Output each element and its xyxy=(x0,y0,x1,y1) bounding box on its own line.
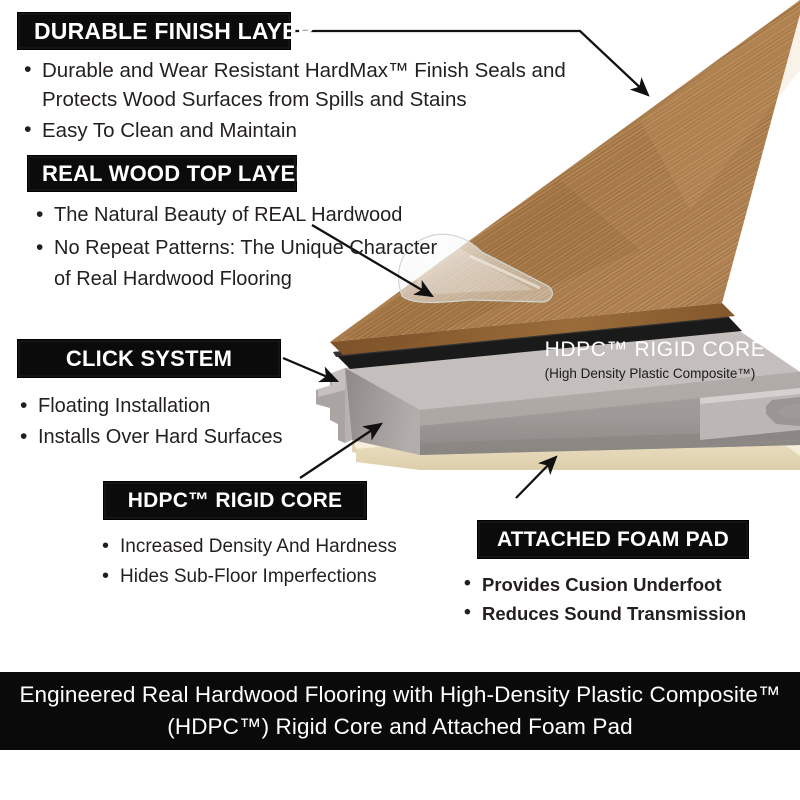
bottom-caption-bar: Engineered Real Hardwood Flooring with H… xyxy=(0,672,800,750)
leader-foam-pad xyxy=(516,457,556,498)
list-item: Easy To Clean and Maintain xyxy=(22,116,602,145)
caption-text: Engineered Real Hardwood Flooring with H… xyxy=(10,679,790,743)
callout-chip-attached-foam-pad: ATTACHED FOAM PAD xyxy=(478,521,748,558)
callout-title-durable-finish-layer: DURABLE FINISH LAYER xyxy=(34,18,288,45)
list-item: Increased Density And Hardness xyxy=(100,533,480,561)
callout-chip-durable-finish-layer: DURABLE FINISH LAYER xyxy=(18,13,290,49)
leader-click-system xyxy=(283,358,337,381)
callout-chip-hdpc-rigid-core: HDPC™ RIGID CORE xyxy=(104,482,366,519)
list-item: The Natural Beauty of REAL Hardwood xyxy=(34,200,454,231)
list-item: Durable and Wear Resistant HardMax™ Fini… xyxy=(22,56,602,114)
callout-bullets-hdpc-rigid-core: Increased Density And Hardness Hides Sub… xyxy=(100,533,480,593)
callout-chip-real-wood-top-layer: REAL WOOD TOP LAYER xyxy=(28,156,296,191)
list-item: Provides Cusion Underfoot xyxy=(462,571,792,598)
callout-bullets-attached-foam-pad: Provides Cusion Underfoot Reduces Sound … xyxy=(462,571,792,629)
callout-title-hdpc-rigid-core: HDPC™ RIGID CORE xyxy=(106,489,364,513)
callout-title-real-wood-top-layer: REAL WOOD TOP LAYER xyxy=(42,161,294,187)
callout-chip-click-system: CLICK SYSTEM xyxy=(18,340,280,377)
list-item: Hides Sub-Floor Imperfections xyxy=(100,563,480,591)
callout-title-click-system: CLICK SYSTEM xyxy=(20,346,278,372)
callout-bullets-durable-finish-layer: Durable and Wear Resistant HardMax™ Fini… xyxy=(22,56,602,147)
infographic-canvas: HDPC™ RIGID CORE (High Density Plastic C… xyxy=(0,0,800,800)
callout-title-attached-foam-pad: ATTACHED FOAM PAD xyxy=(480,528,746,552)
callout-bullets-real-wood-top-layer: The Natural Beauty of REAL Hardwood No R… xyxy=(34,200,454,297)
callout-bullets-click-system: Floating Installation Installs Over Hard… xyxy=(18,392,398,454)
list-item: Reduces Sound Transmission xyxy=(462,600,792,627)
list-item: No Repeat Patterns: The Unique Character… xyxy=(34,233,454,295)
list-item: Floating Installation xyxy=(18,392,398,421)
list-item: Installs Over Hard Surfaces xyxy=(18,423,398,452)
